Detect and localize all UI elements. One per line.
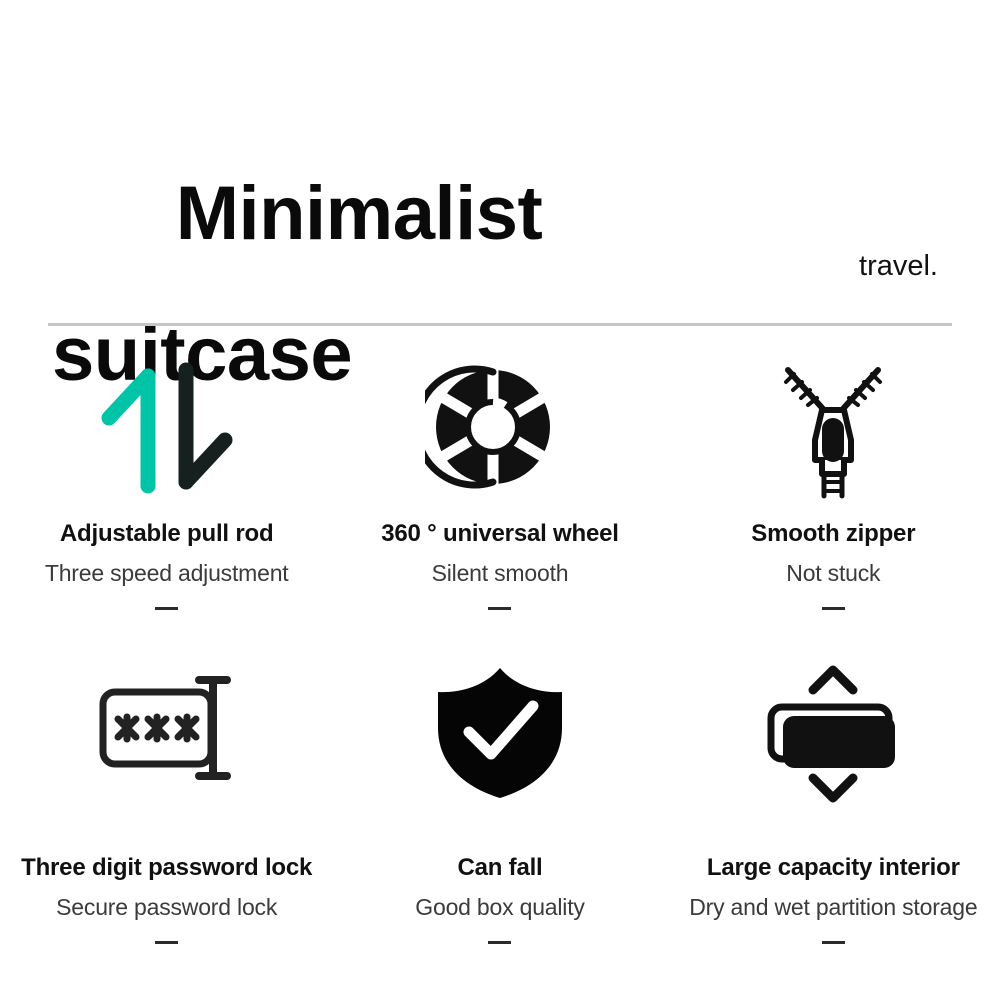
- zipper-icon: [758, 352, 908, 502]
- feature-title: Adjustable pull rod: [60, 520, 274, 548]
- feature-subtitle: Not stuck: [786, 560, 880, 587]
- feature-subtitle: Good box quality: [415, 894, 584, 921]
- feature-divider-dash: [488, 607, 511, 610]
- header-divider: [48, 323, 952, 326]
- feature-card-universal-wheel: 360 ° universal wheel Silent smooth: [333, 352, 666, 652]
- feature-title: Can fall: [457, 854, 542, 882]
- feature-subtitle: Three speed adjustment: [45, 560, 289, 587]
- feature-divider-dash: [155, 607, 178, 610]
- kicker-text: travel.: [859, 250, 938, 283]
- feature-divider-dash: [488, 941, 511, 944]
- page-title-line1: Minimalist: [176, 171, 543, 256]
- poster-root: Minimalist suitcase travel.: [0, 0, 1000, 1000]
- feature-card-pull-rod: Adjustable pull rod Three speed adjustme…: [0, 352, 333, 652]
- feature-card-capacity: Large capacity interior Dry and wet part…: [667, 652, 1000, 952]
- feature-divider-dash: [822, 941, 845, 944]
- expand-storage-icon: [753, 652, 913, 812]
- feature-card-zipper: Smooth zipper Not stuck: [667, 352, 1000, 652]
- feature-grid: Adjustable pull rod Three speed adjustme…: [0, 352, 1000, 952]
- header: Minimalist suitcase travel.: [0, 0, 1000, 330]
- feature-divider-dash: [155, 941, 178, 944]
- feature-subtitle: Silent smooth: [432, 560, 569, 587]
- feature-card-can-fall: Can fall Good box quality: [333, 652, 666, 952]
- feature-subtitle: Dry and wet partition storage: [689, 894, 977, 921]
- up-down-arrows-icon: [92, 352, 242, 502]
- password-lock-icon: [87, 652, 247, 812]
- feature-card-password-lock: Three digit password lock Secure passwor…: [0, 652, 333, 952]
- feature-title: Smooth zipper: [751, 520, 915, 548]
- shield-check-icon: [425, 652, 575, 812]
- feature-title: Three digit password lock: [21, 854, 312, 882]
- feature-subtitle: Secure password lock: [56, 894, 277, 921]
- universal-wheel-icon: [425, 352, 575, 502]
- feature-divider-dash: [822, 607, 845, 610]
- feature-title: 360 ° universal wheel: [381, 520, 619, 548]
- feature-title: Large capacity interior: [707, 854, 960, 882]
